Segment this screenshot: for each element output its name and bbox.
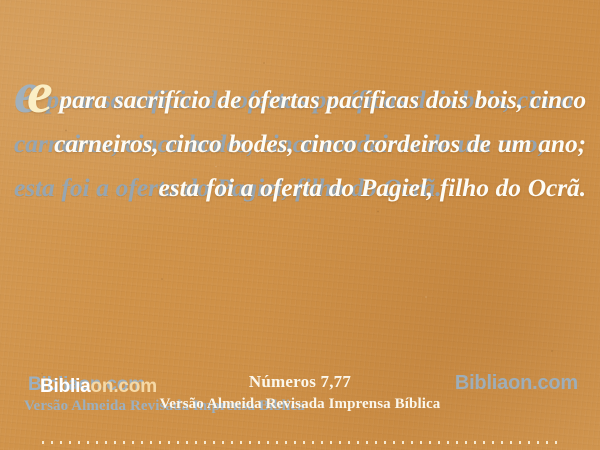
verse-image-card: e para sacrifício de ofertas pacíficas d… — [0, 0, 600, 450]
verse-text: e para sacrifício de ofertas pacíficas d… — [0, 78, 600, 210]
footer: Bibliaon.com Números 7,77 Versão Almeida… — [0, 358, 600, 450]
verse-drop-cap: e — [27, 60, 53, 125]
bible-version: Versão Almeida Revisada Imprensa Bíblica — [0, 396, 600, 413]
verse-body: para sacrifício de ofertas pacíficas doi… — [53, 85, 586, 202]
footer-dotted-divider — [42, 441, 558, 444]
verse-reference: Números 7,77 — [0, 372, 600, 392]
